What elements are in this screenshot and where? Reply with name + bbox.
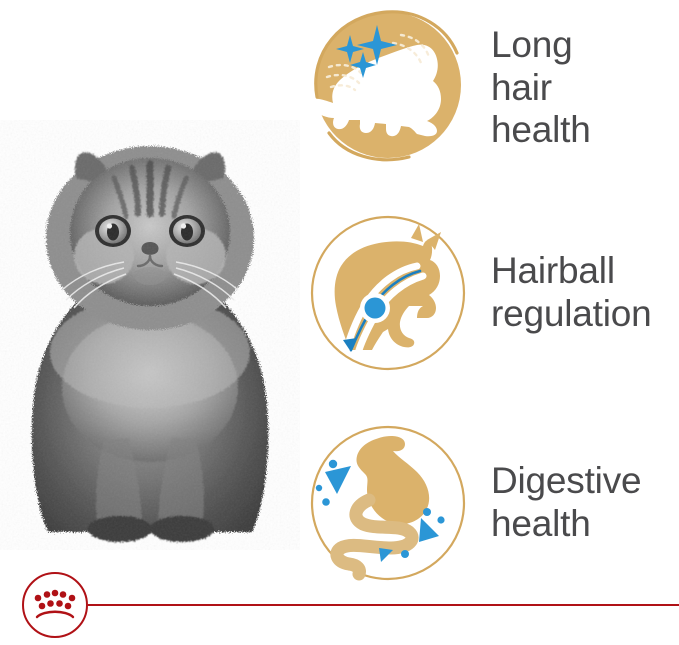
persian-cat-photo-graphic (0, 120, 300, 550)
dot-left-small (316, 485, 322, 491)
royal-canin-logo-ring (23, 573, 87, 637)
dot-left-lower (322, 498, 330, 506)
dot-bottom (401, 550, 409, 558)
benefit-row-hairball-regulation: Hairball regulation (300, 205, 679, 381)
long-hair-cat-sparkle-icon-graphic (305, 5, 471, 171)
benefit-row-long-hair-health: Long hair health (300, 0, 679, 176)
benefit-label-digestive-health: Digestive health (491, 460, 679, 546)
dot-right-upper (423, 508, 431, 516)
persian-cat-photo (0, 120, 300, 550)
hairball-ball (365, 298, 386, 319)
photo-grain (0, 120, 300, 550)
benefit-label-long-hair-health: Long hair health (491, 24, 679, 153)
dot-upper-left (329, 460, 337, 468)
benefit-label-hairball-regulation: Hairball regulation (491, 250, 679, 336)
brand-footer-graphic (0, 560, 679, 645)
hairball-icon-graphic (305, 210, 471, 376)
hairball-cat-digestive-tract-icon (305, 210, 471, 376)
dot-right-small (437, 516, 444, 523)
brand-footer (0, 560, 679, 645)
long-hair-cat-sparkle-icon (305, 5, 471, 171)
